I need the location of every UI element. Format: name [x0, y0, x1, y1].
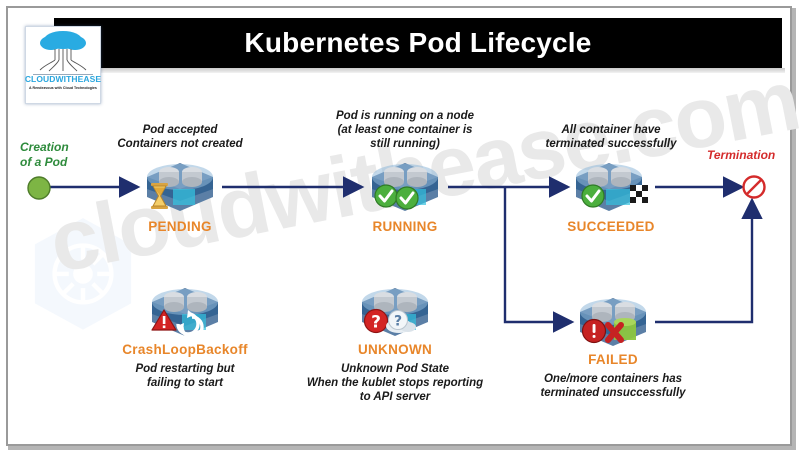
caption-line: to API server [360, 391, 431, 403]
state-label-pending: PENDING [95, 219, 265, 234]
caption-line: Pod accepted [143, 124, 218, 136]
state-node-unknown[interactable]: ? ? UNKNOWN Unknown Pod State When the k… [352, 284, 438, 345]
wire-running-to-failed [505, 187, 572, 322]
state-label-unknown: UNKNOWN [310, 342, 480, 357]
caption-line: failing to start [147, 377, 223, 389]
state-label-failed: FAILED [528, 352, 698, 367]
state-label-succeeded: SUCCEEDED [526, 219, 696, 234]
green-check-icon [375, 185, 397, 207]
pod-box-with-two-green-checks-icon [362, 159, 448, 215]
caption-line: One/more containers has [544, 373, 682, 385]
red-question-mark-icon: ? [365, 310, 388, 333]
pod-box-with-error-and-cross-icon [570, 294, 656, 350]
checkered-flag-icon [630, 185, 648, 203]
caption-line: When the kublet stops reporting [307, 377, 483, 389]
state-caption-succeeded: All container have terminated successful… [496, 123, 726, 151]
caption-line: (at least one container is [338, 124, 473, 136]
caption-line: Containers not created [117, 138, 242, 150]
svg-text:?: ? [371, 313, 381, 333]
state-node-failed[interactable]: FAILED One/more containers has terminate… [570, 294, 656, 355]
state-node-running[interactable]: Pod is running on a node (at least one c… [362, 159, 448, 220]
caption-line: terminated unsuccessfully [540, 387, 685, 399]
state-node-succeeded[interactable]: All container have terminated successful… [568, 159, 654, 220]
caption-line: All container have [561, 124, 660, 136]
caption-line: terminated successfully [545, 138, 676, 150]
green-circle-icon [26, 175, 52, 201]
pod-box-with-hourglass-icon [137, 159, 223, 215]
caption-line: still running) [370, 138, 440, 150]
creation-label-line1: Creation [20, 140, 69, 154]
pod-box-with-question-marks-icon: ? ? [352, 284, 438, 340]
state-node-pending[interactable]: Pod accepted Containers not created [137, 159, 223, 220]
state-node-crashloopbackoff[interactable]: CrashLoopBackoff Pod restarting but fail… [142, 284, 228, 345]
state-caption-unknown: Unknown Pod State When the kublet stops … [260, 362, 530, 404]
creation-label-line2: of a Pod [20, 155, 67, 169]
pod-box-with-check-and-checkered-flag-icon [568, 159, 654, 215]
caption-line: Pod restarting but [135, 363, 234, 375]
state-label-running: RUNNING [320, 219, 490, 234]
caption-line: Unknown Pod State [341, 363, 449, 375]
green-check-icon [396, 187, 418, 209]
state-caption-failed: One/more containers has terminated unsuc… [498, 372, 728, 400]
diagram-canvas: cloudwithease.com Kubernetes Pod Lifecyc… [0, 0, 800, 454]
state-label-crashloopbackoff: CrashLoopBackoff [100, 342, 270, 357]
state-caption-running: Pod is running on a node (at least one c… [290, 109, 520, 151]
state-caption-pending: Pod accepted Containers not created [65, 123, 295, 151]
pod-box-with-warning-and-restart-icon [142, 284, 228, 340]
svg-text:?: ? [394, 314, 402, 330]
caption-line: Pod is running on a node [336, 110, 474, 122]
red-exclamation-icon [583, 320, 606, 343]
green-check-icon [582, 185, 604, 207]
prohibition-sign-icon [740, 173, 768, 201]
